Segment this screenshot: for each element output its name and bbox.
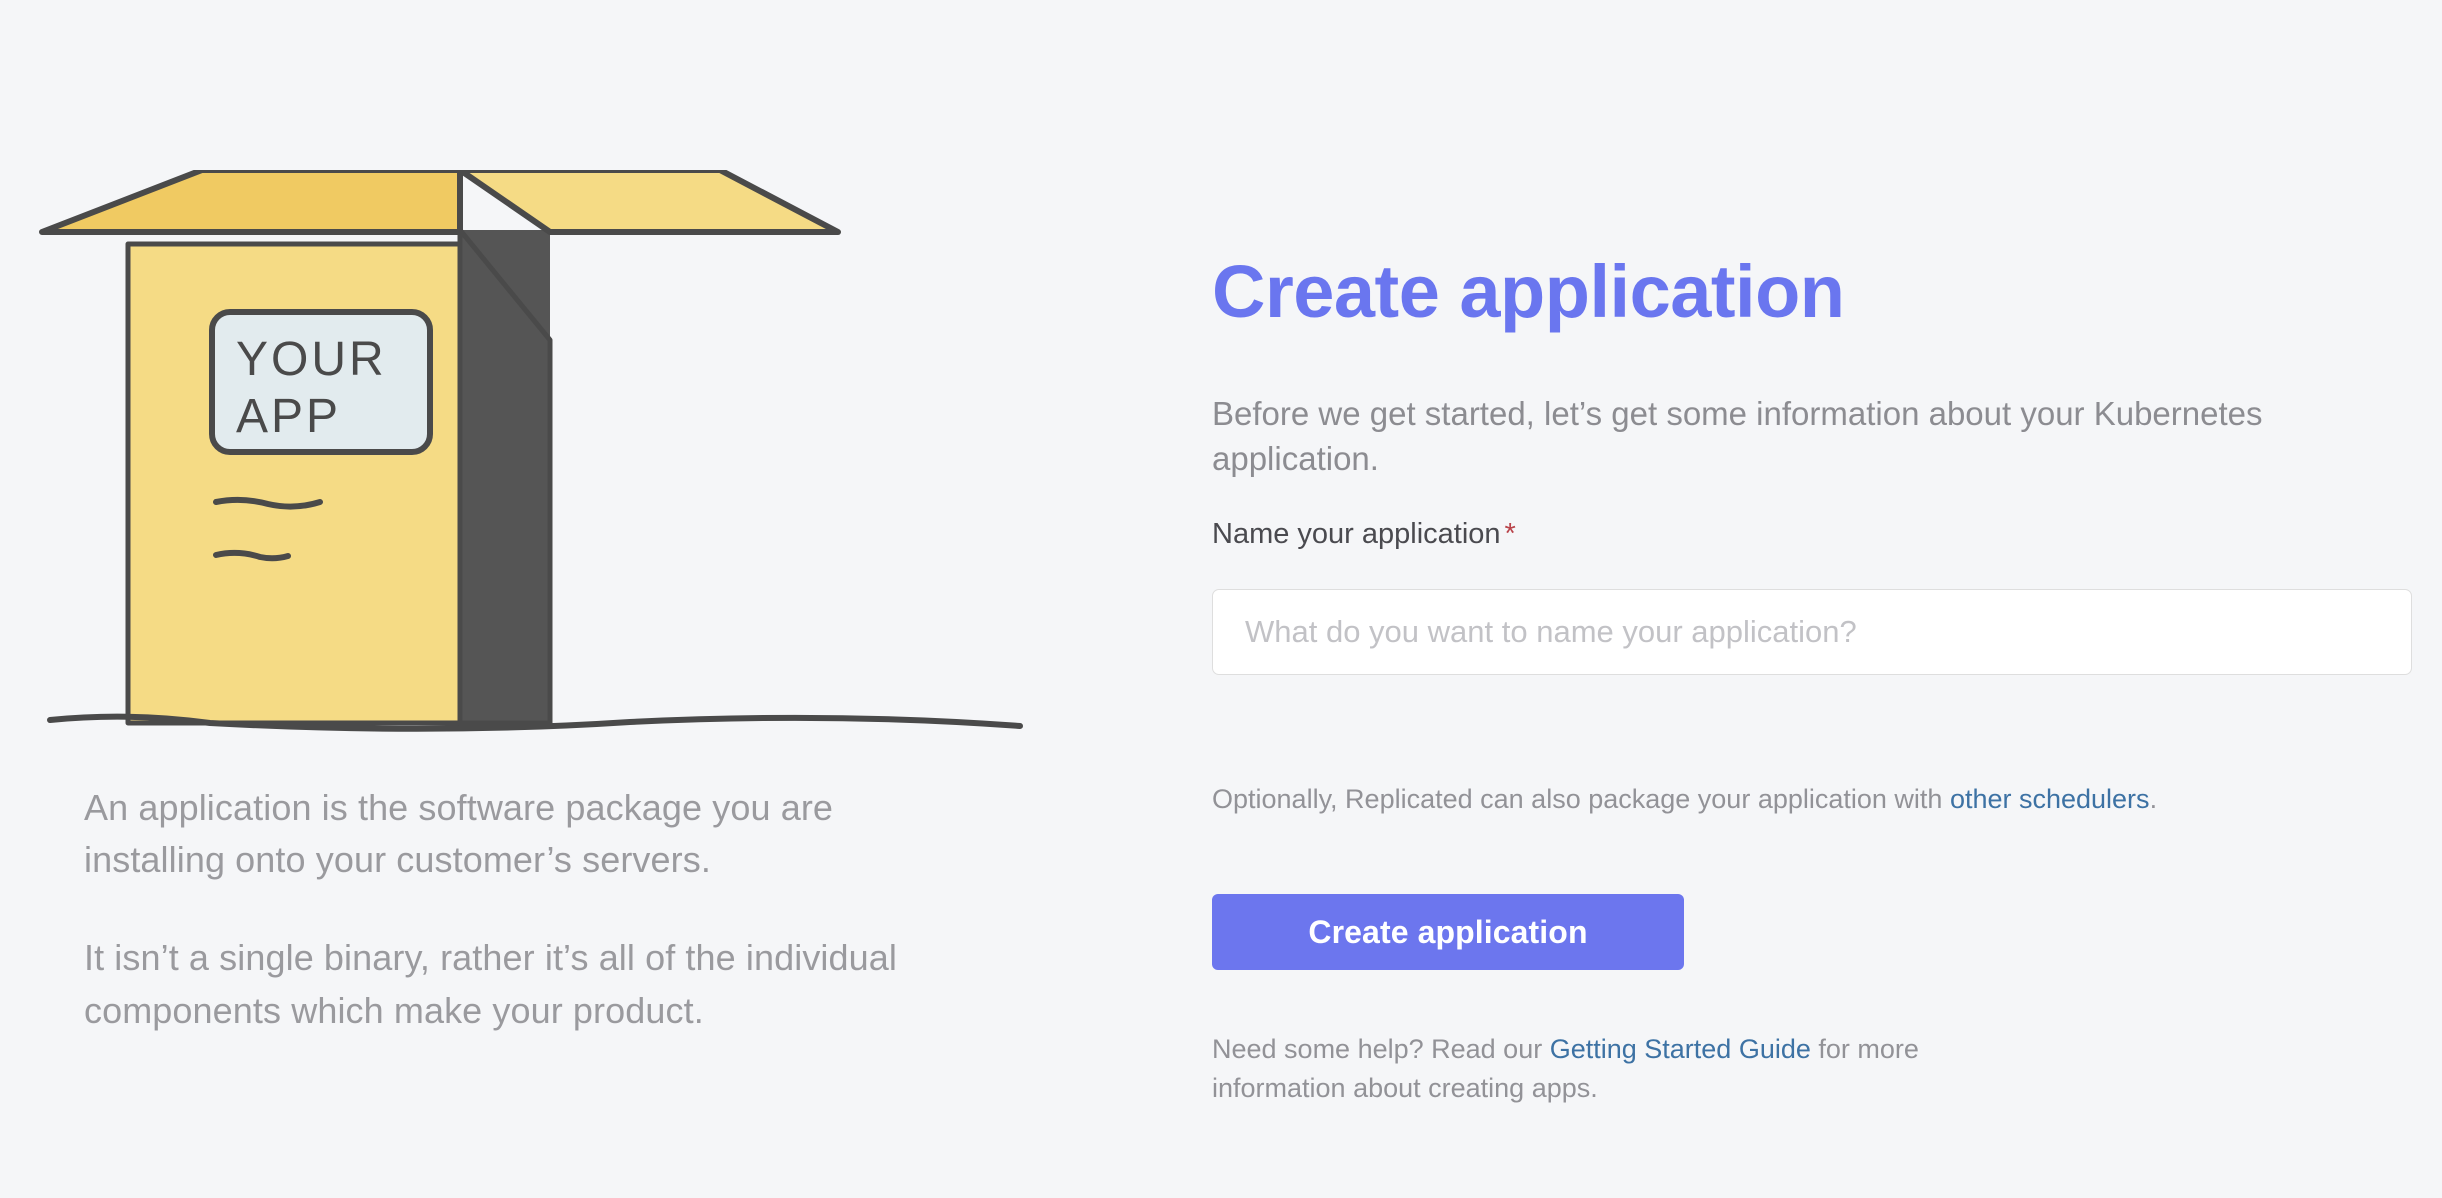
optional-note-prefix: Optionally, Replicated can also package … xyxy=(1212,784,1950,814)
optional-note-suffix: . xyxy=(2150,784,2158,814)
page-subtitle: Before we get started, let’s get some in… xyxy=(1212,391,2352,481)
other-schedulers-link[interactable]: other schedulers xyxy=(1950,784,2150,814)
application-name-input[interactable] xyxy=(1212,589,2412,675)
open-cardboard-box-illustration: YOUR APP xyxy=(30,170,1040,740)
right-column: Create application Before we get started… xyxy=(1212,0,2422,1198)
optional-schedulers-note: Optionally, Replicated can also package … xyxy=(1212,784,2157,815)
create-application-page: YOUR APP An application is the software … xyxy=(0,0,2442,1198)
getting-started-guide-link[interactable]: Getting Started Guide xyxy=(1550,1034,1811,1064)
box-label-line1: YOUR xyxy=(236,333,387,386)
description-paragraph-1: An application is the software package y… xyxy=(84,782,984,886)
page-title: Create application xyxy=(1212,255,1845,329)
description-paragraph-2: It isn’t a single binary, rather it’s al… xyxy=(84,932,984,1036)
name-field-label: Name your application* xyxy=(1212,518,1516,551)
required-asterisk: * xyxy=(1505,518,1516,550)
left-description: An application is the software package y… xyxy=(84,782,984,1037)
help-note: Need some help? Read our Getting Started… xyxy=(1212,1030,1992,1108)
box-label-line2: APP xyxy=(236,390,341,443)
create-application-button[interactable]: Create application xyxy=(1212,894,1684,970)
left-column: YOUR APP An application is the software … xyxy=(0,0,1140,1198)
name-field-label-text: Name your application xyxy=(1212,518,1501,550)
help-note-prefix: Need some help? Read our xyxy=(1212,1034,1550,1064)
